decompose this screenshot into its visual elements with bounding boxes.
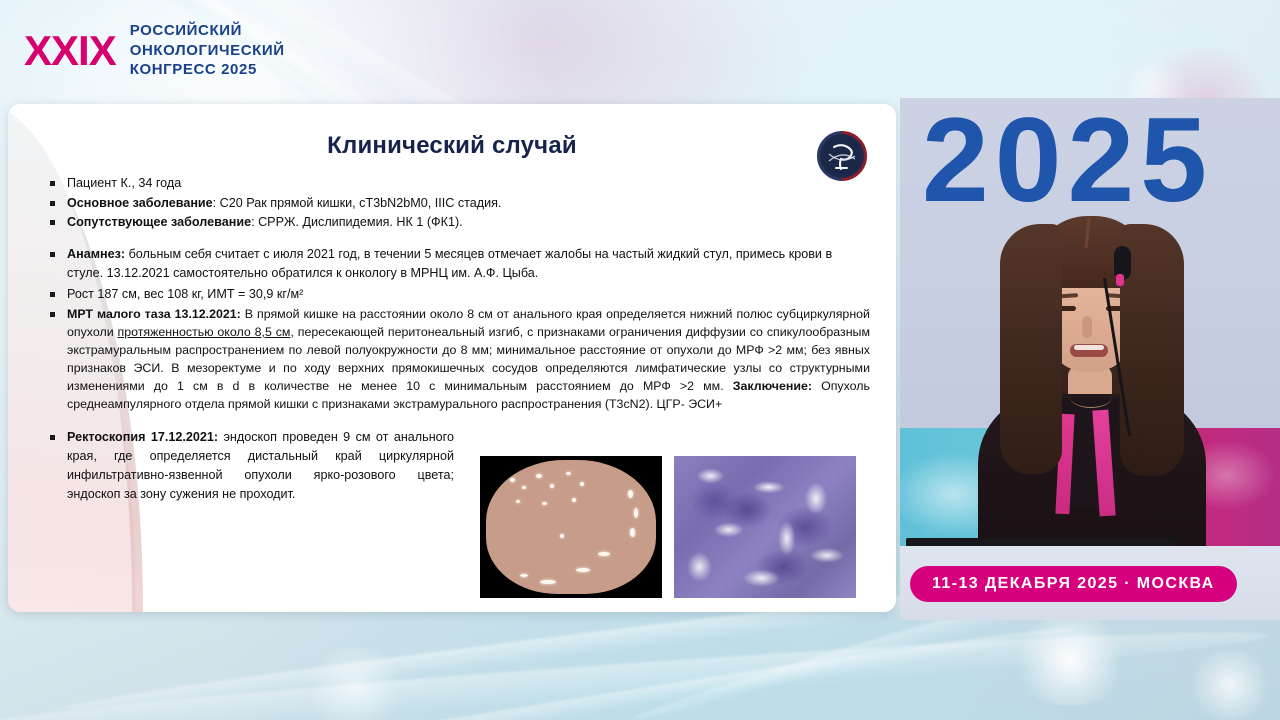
presentation-slide[interactable]: Клинический случай Пациент К., 34 года О… bbox=[8, 104, 896, 612]
bullet-rectoscopy-label: Ректоскопия 17.12.2021: bbox=[67, 430, 218, 444]
figure-row bbox=[480, 456, 856, 598]
speaker-nose bbox=[1082, 316, 1092, 338]
bullet-primary-diagnosis-text: : C20 Рак прямой кишки, cT3bN2bM0, IIIC … bbox=[213, 196, 502, 210]
bullet-anthropometry: Рост 187 см, вес 108 кг, ИМТ = 30,9 кг/м… bbox=[67, 285, 870, 304]
spacer bbox=[50, 233, 870, 245]
conference-logo: XXIX РОССИЙСКИЙ ОНКОЛОГИЧЕСКИЙ КОНГРЕСС … bbox=[24, 22, 285, 79]
spacer bbox=[50, 416, 870, 428]
bullet-mri: МРТ малого таза 13.12.2021: В прямой киш… bbox=[67, 305, 870, 414]
list-item: Сопутствующее заболевание: СРРЖ. Дислипи… bbox=[50, 213, 870, 232]
bullet-comorbidity: Сопутствующее заболевание: СРРЖ. Дислипи… bbox=[67, 213, 870, 232]
bullet-marker-icon bbox=[50, 201, 55, 206]
bullet-primary-diagnosis-label: Основное заболевание bbox=[67, 196, 213, 210]
list-item: Пациент К., 34 года bbox=[50, 174, 870, 193]
list-item: Основное заболевание: C20 Рак прямой киш… bbox=[50, 194, 870, 213]
bullet-rectoscopy: Ректоскопия 17.12.2021: эндоскоп проведе… bbox=[67, 428, 454, 504]
conference-logo-numeral: XXIX bbox=[24, 30, 116, 72]
bullet-patient: Пациент К., 34 года bbox=[67, 174, 870, 193]
slide-title: Клинический случай bbox=[34, 132, 870, 160]
bullet-marker-icon bbox=[50, 220, 55, 225]
presenter-video-panel[interactable]: 2025 bbox=[900, 98, 1280, 620]
bullet-marker-icon bbox=[50, 292, 55, 297]
histology-tissue bbox=[674, 456, 856, 598]
bullet-marker-icon bbox=[50, 312, 55, 317]
list-item: Ректоскопия 17.12.2021: эндоскоп проведе… bbox=[50, 428, 454, 504]
bullet-mri-underlined: протяженностью около 8,5 см bbox=[118, 325, 291, 339]
list-item: Анамнез: больным себя считает с июля 202… bbox=[50, 245, 870, 282]
slide-bullet-list: Пациент К., 34 года Основное заболевание… bbox=[34, 174, 870, 504]
medical-bowl-of-hygieia-emblem-icon bbox=[816, 130, 868, 182]
histology-slide-photo bbox=[674, 456, 856, 598]
conference-logo-words: РОССИЙСКИЙ ОНКОЛОГИЧЕСКИЙ КОНГРЕСС 2025 bbox=[130, 22, 285, 79]
bullet-marker-icon bbox=[50, 435, 55, 440]
bullet-marker-icon bbox=[50, 181, 55, 186]
bullet-anamnesis-text: больным себя считает с июля 2021 год, в … bbox=[67, 247, 832, 280]
conference-logo-line1: РОССИЙСКИЙ bbox=[130, 22, 285, 40]
background-glow bbox=[300, 648, 410, 720]
conference-date-banner: 11-13 ДЕКАБРЯ 2025 · МОСКВА bbox=[910, 566, 1237, 602]
conference-logo-line2: ОНКОЛОГИЧЕСКИЙ bbox=[130, 42, 285, 60]
bullet-comorbidity-text: : СРРЖ. Дислипидемия. НК 1 (ФК1). bbox=[251, 215, 463, 229]
list-item: МРТ малого таза 13.12.2021: В прямой киш… bbox=[50, 305, 870, 414]
video-backdrop-year-text: 2025 bbox=[922, 100, 1213, 220]
speaker-necklace bbox=[1070, 386, 1112, 408]
conference-logo-line3: КОНГРЕСС 2025 bbox=[130, 61, 285, 79]
bullet-mri-conclusion-label: Заключение: bbox=[733, 379, 812, 393]
endoscopy-photo bbox=[480, 456, 662, 598]
bullet-anamnesis-label: Анамнез: bbox=[67, 247, 125, 261]
speaker-hair-left bbox=[1000, 224, 1062, 474]
bullet-mri-label: МРТ малого таза 13.12.2021: bbox=[67, 307, 241, 321]
speaker-teeth bbox=[1074, 345, 1104, 350]
microphone-tip bbox=[1116, 274, 1124, 286]
bullet-anamnesis: Анамнез: больным себя считает с июля 202… bbox=[67, 245, 870, 282]
background-glow bbox=[1185, 650, 1275, 720]
bullet-comorbidity-label: Сопутствующее заболевание bbox=[67, 215, 251, 229]
bullet-marker-icon bbox=[50, 252, 55, 257]
background-glow bbox=[1010, 616, 1130, 706]
bullet-primary-diagnosis: Основное заболевание: C20 Рак прямой киш… bbox=[67, 194, 870, 213]
list-item: Рост 187 см, вес 108 кг, ИМТ = 30,9 кг/м… bbox=[50, 285, 870, 304]
